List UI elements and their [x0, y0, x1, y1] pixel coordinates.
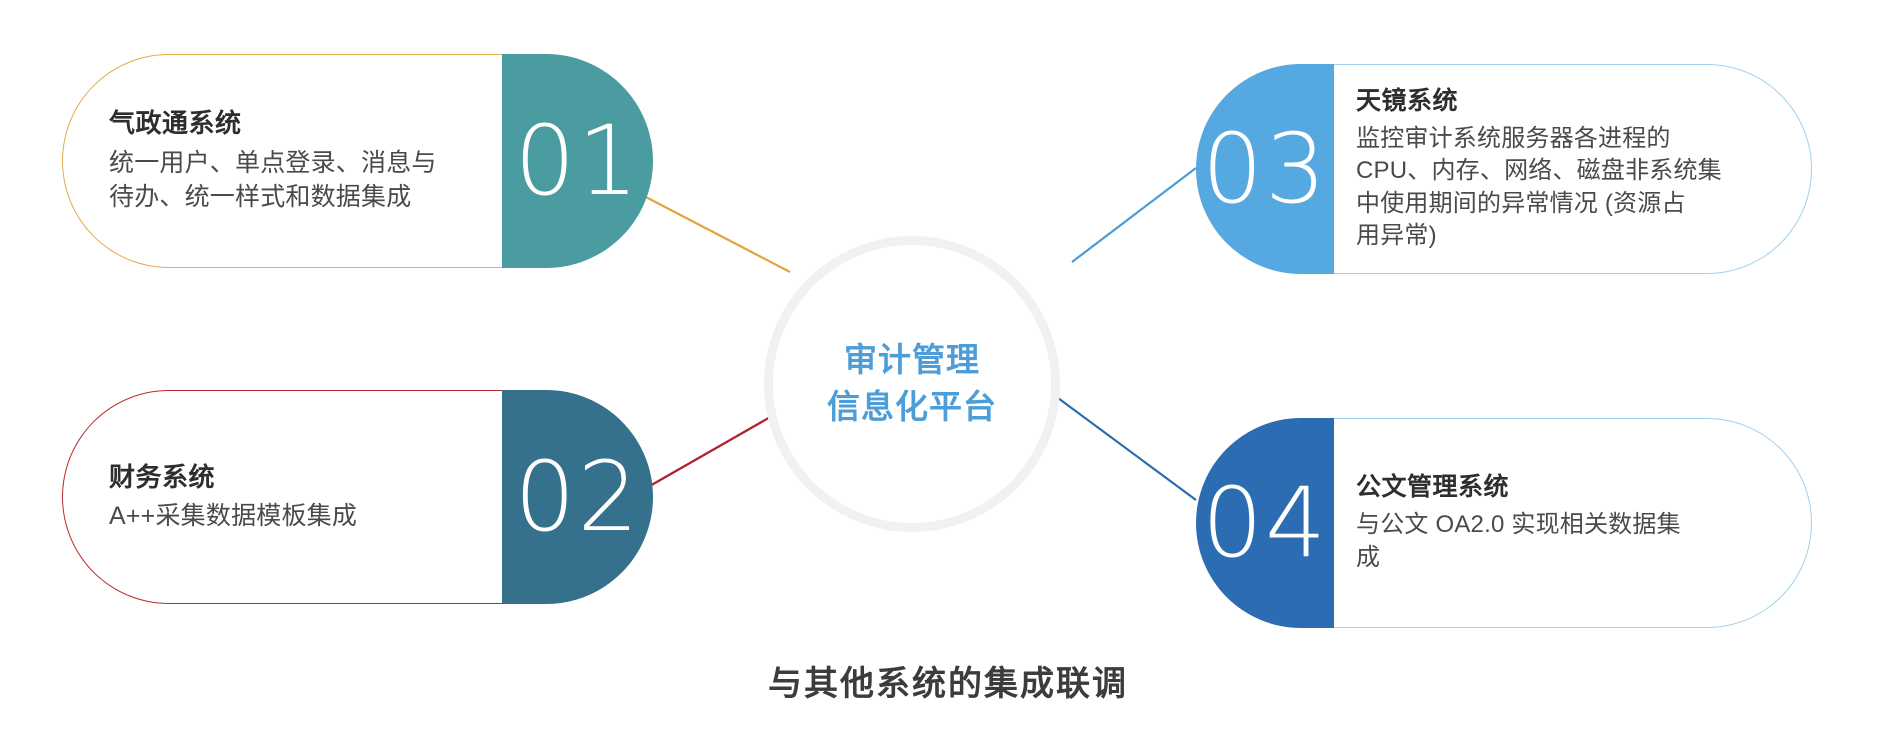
connector-line-01: [642, 195, 790, 272]
card-03-number-badge: 03: [1196, 64, 1334, 274]
card-02-desc-line-1: A++采集数据模板集成: [109, 499, 488, 534]
card-03-desc-line-2: CPU、内存、网络、磁盘非系统集: [1356, 155, 1761, 187]
card-02-body: 财务系统 A++采集数据模板集成: [62, 390, 502, 604]
card-02-title: 财务系统: [109, 461, 488, 494]
hub-title-line-1: 审计管理: [844, 337, 980, 384]
card-04-document-management[interactable]: 04 公文管理系统 与公文 OA2.0 实现相关数据集 成: [1196, 418, 1812, 628]
card-01-title: 气政通系统: [109, 107, 488, 140]
card-03-body: 天镜系统 监控审计系统服务器各进程的 CPU、内存、网络、磁盘非系统集 中使用期…: [1334, 64, 1812, 274]
card-04-body: 公文管理系统 与公文 OA2.0 实现相关数据集 成: [1334, 418, 1812, 628]
card-04-number-badge: 04: [1196, 418, 1334, 628]
card-01-desc-line-2: 待办、统一样式和数据集成: [109, 180, 488, 215]
card-03-tianjing[interactable]: 03 天镜系统 监控审计系统服务器各进程的 CPU、内存、网络、磁盘非系统集 中…: [1196, 64, 1812, 274]
card-01-desc-line-1: 统一用户、单点登录、消息与: [109, 146, 488, 181]
diagram-canvas: 审计管理 信息化平台 01 气政通系统 统一用户、单点登录、消息与 待办、统一样…: [0, 0, 1896, 748]
card-01-body: 气政通系统 统一用户、单点登录、消息与 待办、统一样式和数据集成: [62, 54, 502, 268]
card-04-desc-line-2: 成: [1356, 542, 1761, 574]
hub-title-line-2: 信息化平台: [827, 384, 997, 431]
connector-line-04: [1058, 398, 1196, 500]
card-03-desc-line-1: 监控审计系统服务器各进程的: [1356, 123, 1761, 155]
card-03-desc-line-4: 用异常): [1356, 220, 1761, 252]
card-01-qizhengtong[interactable]: 01 气政通系统 统一用户、单点登录、消息与 待办、统一样式和数据集成: [62, 54, 653, 268]
card-02-finance[interactable]: 02 财务系统 A++采集数据模板集成: [62, 390, 653, 604]
card-04-title: 公文管理系统: [1356, 472, 1761, 503]
connector-line-03: [1072, 168, 1196, 262]
central-hub[interactable]: 审计管理 信息化平台: [773, 245, 1051, 523]
diagram-caption: 与其他系统的集成联调: [0, 656, 1896, 705]
card-01-number-badge: 01: [502, 54, 653, 268]
card-03-desc-line-3: 中使用期间的异常情况 (资源占: [1356, 188, 1761, 220]
card-02-number-badge: 02: [502, 390, 653, 604]
card-03-title: 天镜系统: [1356, 86, 1761, 117]
card-04-desc-line-1: 与公文 OA2.0 实现相关数据集: [1356, 509, 1761, 541]
